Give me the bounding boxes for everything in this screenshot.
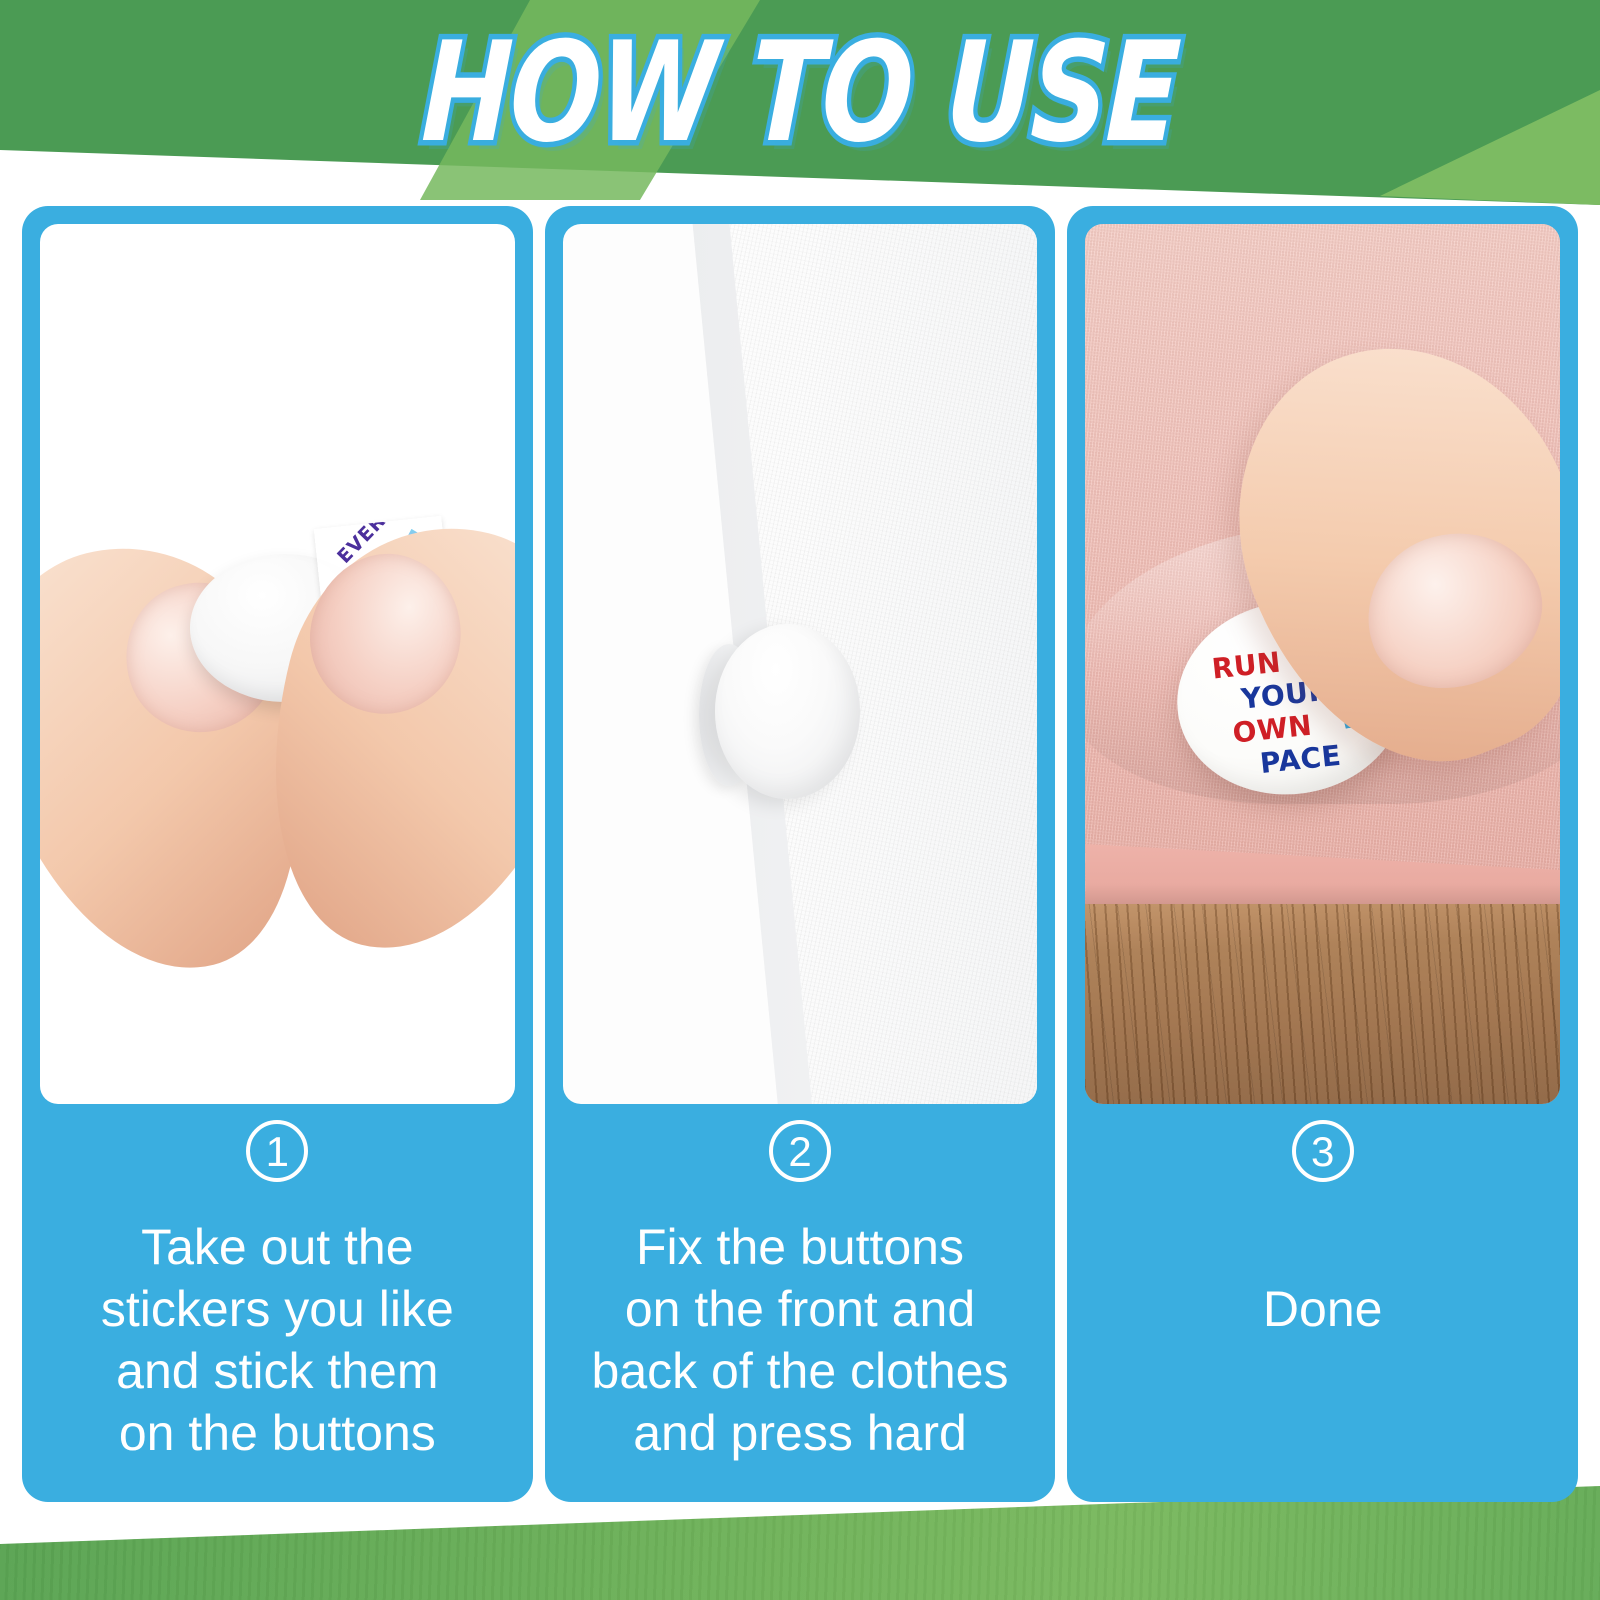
step-panel-2: 2 Fix the buttons on the front and back …	[545, 206, 1056, 1502]
step-caption-3: Done	[1249, 1182, 1397, 1340]
step-number-badge-2: 2	[769, 1120, 831, 1182]
step-caption-2: Fix the buttons on the front and back of…	[578, 1182, 1023, 1464]
step-1-photo: EVERY THING HURTS AND I'M DYING	[40, 224, 515, 1104]
background-green-top-band	[0, 0, 1600, 230]
step-number-badge-3: 3	[1292, 1120, 1354, 1182]
step-panel-3: RUN YOUR OWN PACE 3 Done	[1067, 206, 1578, 1502]
step-2-photo	[563, 224, 1038, 1104]
step-caption-1: Take out the stickers you like and stick…	[87, 1182, 468, 1464]
how-to-use-infographic: HOW TO USE EVERY THING HURTS AND I'M DYI…	[0, 0, 1600, 1600]
step-number-badge-1: 1	[246, 1120, 308, 1182]
step-panel-1: EVERY THING HURTS AND I'M DYING 1 Take o…	[22, 206, 533, 1502]
white-round-button	[715, 624, 860, 799]
steps-container: EVERY THING HURTS AND I'M DYING 1 Take o…	[22, 206, 1578, 1502]
step-3-photo: RUN YOUR OWN PACE	[1085, 224, 1560, 1104]
wood-grain-texture	[1085, 904, 1560, 1104]
